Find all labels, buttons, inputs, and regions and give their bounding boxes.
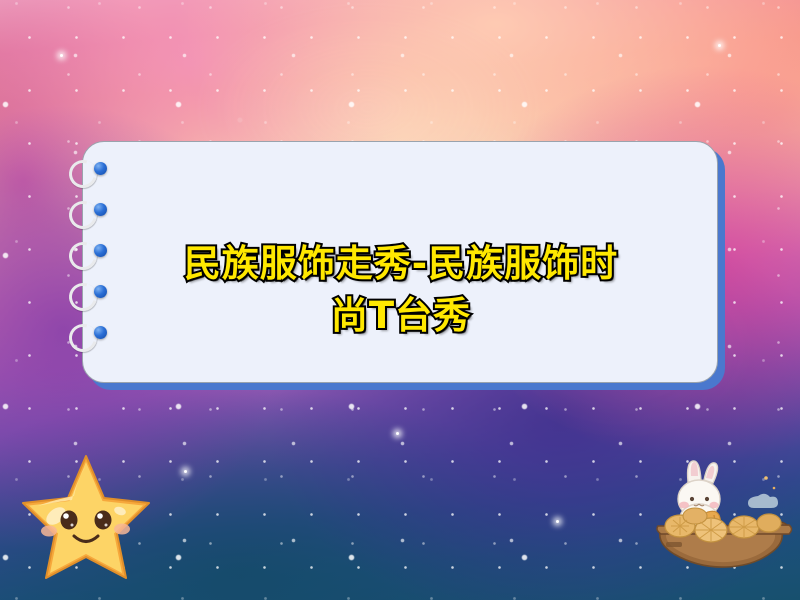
star-eye-left-icon [61,511,78,530]
slide-canvas: 民族服饰走秀-民族服饰时 尚T台秀 [0,0,800,600]
bright-star-icon [60,54,63,57]
notebook-card: 民族服饰走秀-民族服饰时 尚T台秀 [82,141,718,383]
slide-title: 民族服饰走秀-民族服饰时 尚T台秀 [83,238,719,342]
bright-star-icon [556,520,559,523]
boat-icon [657,508,792,567]
card-surface: 民族服饰走秀-民族服饰时 尚T台秀 [82,141,718,383]
smiling-star-sticker [16,448,156,586]
star-cheek-right-icon [114,524,130,535]
star-cheek-left-icon [41,526,57,537]
cloud-icon [748,494,778,508]
binder-ring-icon [69,160,115,190]
binder-ring-icon [69,201,115,231]
rabbit-in-mooncake-boat-sticker [654,456,798,584]
star-eye-right-icon [95,511,112,530]
bright-star-icon [184,470,187,473]
bright-star-icon [396,432,399,435]
bright-star-icon [718,44,721,47]
